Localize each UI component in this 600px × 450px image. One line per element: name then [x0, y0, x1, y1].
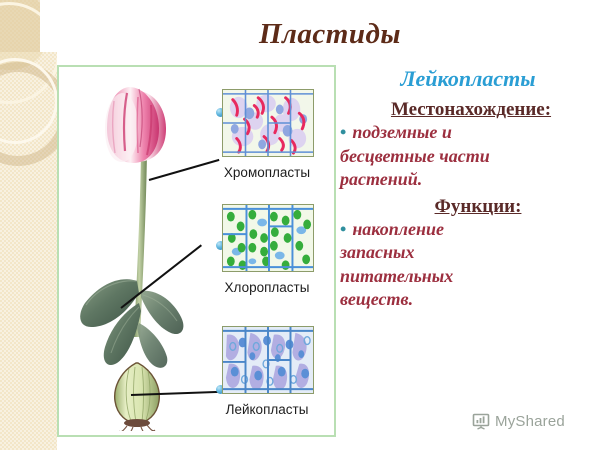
location-line-3: растений.	[340, 168, 596, 191]
functions-heading: Функции:	[360, 196, 596, 218]
functions-line-4: веществ.	[340, 288, 596, 311]
leucoplast-cells-micrograph	[222, 326, 314, 394]
micrograph-label-leucoplasts: Лейкопласты	[199, 402, 335, 417]
location-line-1: подземные и	[340, 121, 596, 144]
micrograph-label-chloroplasts: Хлоропласты	[199, 280, 335, 295]
micrograph-label-chromoplasts: Хромопласты	[199, 165, 335, 180]
decorative-sidebar	[0, 0, 57, 450]
chloroplast-cells-micrograph	[222, 204, 314, 272]
content-column: Лейкопласты Местонахождение: подземные и…	[340, 66, 596, 312]
diagram-frame: Хромопласты Хлоропласты Лейкопласты	[57, 65, 336, 437]
functions-line-3: питательных	[340, 265, 596, 288]
chromoplast-cells-micrograph	[222, 89, 314, 157]
presentation-board-icon	[472, 412, 490, 430]
watermark-text: MyShared	[495, 413, 565, 430]
slide-title: Пластиды	[200, 18, 460, 51]
functions-line-1: накопление	[340, 218, 596, 241]
tulip-plant-illustration	[67, 75, 207, 431]
location-heading: Местонахождение:	[346, 99, 596, 121]
functions-line-2: запасных	[340, 241, 596, 264]
presentation-slide: Пластиды	[0, 0, 600, 450]
myshared-watermark: MyShared	[472, 412, 565, 430]
location-line-2: бесцветные части	[340, 145, 596, 168]
sidebar-notch	[40, 0, 57, 52]
slide-subtitle: Лейкопласты	[340, 66, 596, 92]
